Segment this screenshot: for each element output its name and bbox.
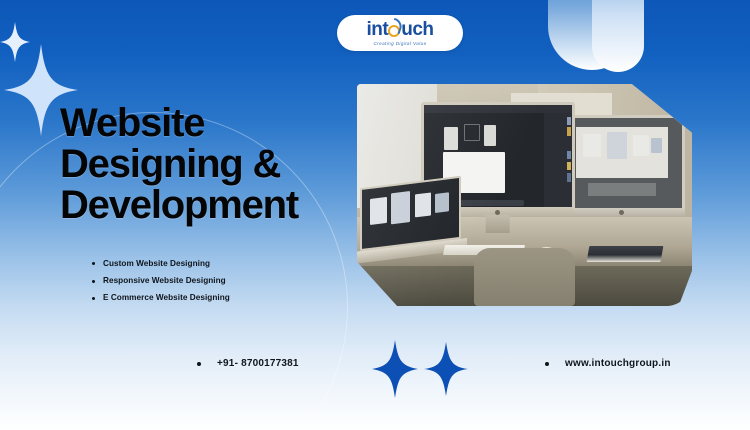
logo-wordmark: int uch — [367, 20, 434, 39]
logo-text-post: uch — [401, 20, 433, 39]
contact-phone[interactable]: +91- 8700177381 — [197, 358, 299, 369]
bullet-dot-icon — [197, 362, 201, 366]
monitor-right — [558, 115, 685, 217]
page-title: Website Designing & Development — [60, 103, 360, 225]
logo-globe-icon — [388, 23, 401, 36]
list-item: Custom Website Designing — [92, 260, 230, 268]
logo-text-pre: int — [367, 20, 389, 39]
decorative-u-shape-front — [592, 0, 644, 72]
list-item: E Commerce Website Designing — [92, 294, 230, 302]
website-url: www.intouchgroup.in — [565, 358, 671, 369]
sparkle-icon-small — [0, 22, 30, 62]
sparkle-icon-blue-left — [372, 340, 418, 398]
promo-banner: int uch Creating Digital Value Website D… — [0, 0, 750, 430]
title-line-3: Development — [60, 185, 360, 226]
workspace-photo — [357, 84, 692, 306]
sparkle-icon-blue-right — [424, 342, 468, 396]
services-list: Custom Website Designing Responsive Webs… — [92, 260, 230, 312]
title-line-1: Website — [60, 103, 360, 144]
contact-website[interactable]: www.intouchgroup.in — [545, 358, 671, 369]
title-line-2: Designing & — [60, 144, 360, 185]
logo-tagline: Creating Digital Value — [373, 41, 426, 46]
brand-logo[interactable]: int uch Creating Digital Value — [337, 15, 463, 51]
phone-number: +91- 8700177381 — [217, 358, 299, 369]
list-item: Responsive Website Designing — [92, 277, 230, 285]
bullet-dot-icon — [545, 362, 549, 366]
